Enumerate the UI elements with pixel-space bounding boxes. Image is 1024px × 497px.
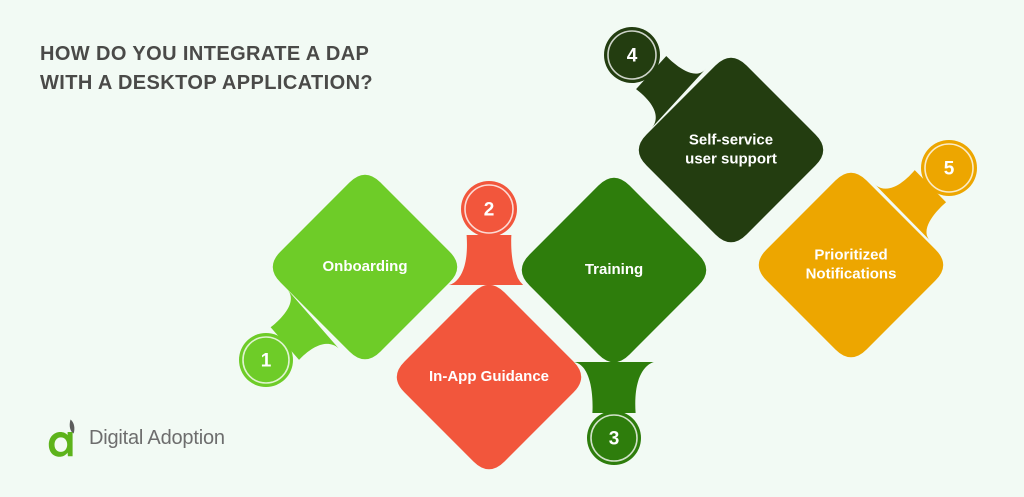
step-badge-number: 4 [627, 46, 638, 67]
logo-text: Digital Adoption [89, 427, 225, 450]
step-badge-number: 1 [261, 351, 272, 372]
logo-leaf-shape [70, 420, 75, 434]
infographic-canvas: HOW DO YOU INTEGRATE A DAP WITH A DESKTO… [0, 0, 1024, 497]
step-label: In-App Guidance [429, 368, 549, 385]
step-badge-number: 2 [484, 200, 495, 221]
step-badge-number: 3 [609, 429, 620, 450]
step-label: Training [585, 261, 643, 278]
logo-mark-icon [48, 418, 82, 458]
step-label: Onboarding [323, 258, 408, 275]
step-connector [574, 362, 654, 413]
logo-letter-a-shape [49, 432, 73, 457]
digital-adoption-logo: Digital Adoption [48, 418, 225, 458]
step-badge-number: 5 [944, 159, 955, 180]
